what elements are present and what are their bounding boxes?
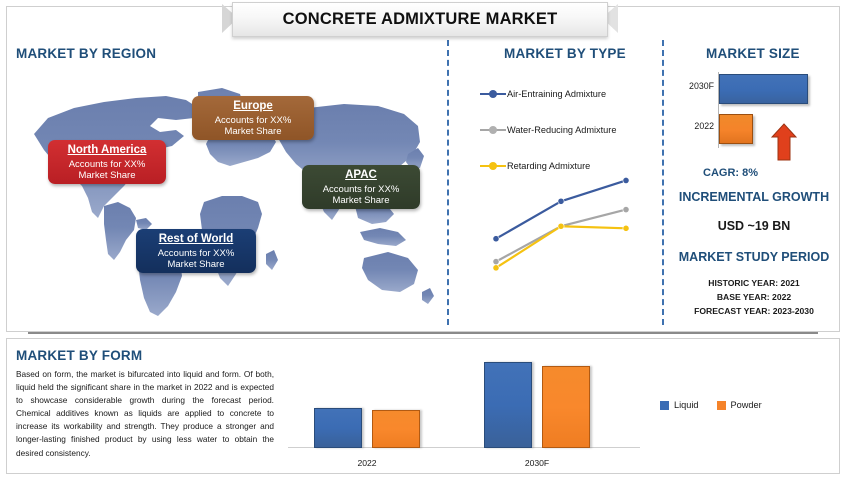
bar-2022-powder[interactable] bbox=[372, 410, 420, 448]
legend-marker-icon bbox=[480, 125, 506, 135]
region-callout-rest-of-world[interactable]: Rest of World Accounts for XX% Market Sh… bbox=[136, 229, 256, 273]
title-ribbon-body: CONCRETE ADMIXTURE MARKET bbox=[232, 2, 608, 37]
bar-2030f-liquid[interactable] bbox=[484, 362, 532, 448]
growth-arrow-icon bbox=[771, 123, 797, 161]
line-chart-svg bbox=[470, 160, 650, 285]
category-label: 2030F bbox=[672, 81, 714, 91]
data-point[interactable] bbox=[623, 225, 629, 231]
region-name: APAC bbox=[308, 169, 414, 183]
bar-2030f-powder[interactable] bbox=[542, 366, 590, 448]
legend-swatch-icon bbox=[660, 401, 669, 410]
market-by-form-bar-chart: 2022 2030F bbox=[288, 358, 640, 470]
title-ribbon: CONCRETE ADMIXTURE MARKET bbox=[222, 2, 618, 37]
market-size-row-2030f: 2030F bbox=[672, 74, 842, 104]
data-point[interactable] bbox=[623, 177, 629, 183]
market-by-form-paragraph: Based on form, the market is bifurcated … bbox=[16, 368, 274, 460]
region-name: Europe bbox=[198, 100, 308, 114]
bar-2022-liquid[interactable] bbox=[314, 408, 362, 448]
region-share-line1: Accounts for XX% bbox=[198, 115, 308, 126]
horizontal-divider bbox=[28, 332, 818, 334]
x-axis-label-2022: 2022 bbox=[327, 458, 407, 468]
legend-label: Liquid bbox=[674, 400, 699, 410]
data-point[interactable] bbox=[623, 207, 629, 213]
region-share-line1: Accounts for XX% bbox=[142, 248, 250, 259]
page-title: CONCRETE ADMIXTURE MARKET bbox=[283, 10, 558, 29]
base-year-value: BASE YEAR: 2022 bbox=[664, 292, 844, 302]
incremental-growth-heading: INCREMENTAL GROWTH bbox=[664, 190, 844, 204]
market-size-row-2022: 2022 bbox=[672, 114, 842, 144]
region-callout-apac[interactable]: APAC Accounts for XX% Market Share bbox=[302, 165, 420, 209]
legend-item-liquid[interactable]: Liquid bbox=[660, 400, 699, 410]
region-share-line1: Accounts for XX% bbox=[308, 184, 414, 195]
incremental-growth-value: USD ~19 BN bbox=[664, 219, 844, 233]
data-point[interactable] bbox=[558, 223, 564, 229]
market-size-bar-chart: 2030F 2022 bbox=[672, 72, 842, 148]
section-heading-market-size: MARKET SIZE bbox=[706, 46, 800, 61]
region-share-line2: Market Share bbox=[308, 195, 414, 206]
market-by-type-line-chart bbox=[470, 160, 650, 285]
region-callout-north-america[interactable]: North America Accounts for XX% Market Sh… bbox=[48, 140, 166, 184]
region-name: Rest of World bbox=[142, 233, 250, 247]
legend-item-air-entraining[interactable]: Air-Entraining Admixture bbox=[480, 76, 650, 112]
infographic-canvas: CONCRETE ADMIXTURE MARKET MARKET BY REGI… bbox=[0, 0, 846, 480]
data-point[interactable] bbox=[493, 236, 499, 242]
region-share-line2: Market Share bbox=[198, 126, 308, 137]
section-heading-market-by-region: MARKET BY REGION bbox=[16, 46, 156, 61]
region-name: North America bbox=[54, 144, 160, 158]
line-series-0 bbox=[496, 180, 626, 238]
x-axis-label-2030f: 2030F bbox=[497, 458, 577, 468]
market-study-period-heading: MARKET STUDY PERIOD bbox=[664, 250, 844, 264]
forecast-year-value: FORECAST YEAR: 2023-2030 bbox=[664, 306, 844, 316]
section-heading-market-by-form: MARKET BY FORM bbox=[16, 348, 142, 363]
section-heading-market-by-type: MARKET BY TYPE bbox=[504, 46, 626, 61]
line-series-1 bbox=[496, 210, 626, 262]
historic-year-value: HISTORIC YEAR: 2021 bbox=[664, 278, 844, 288]
region-share-line2: Market Share bbox=[142, 259, 250, 270]
legend-marker-icon bbox=[480, 89, 506, 99]
cagr-label: CAGR: 8% bbox=[703, 167, 758, 179]
line-series-2 bbox=[496, 226, 626, 268]
legend-item-powder[interactable]: Powder bbox=[717, 400, 762, 410]
legend-swatch-icon bbox=[717, 401, 726, 410]
bar-2030f[interactable] bbox=[719, 74, 808, 104]
category-label: 2022 bbox=[672, 121, 714, 131]
data-point[interactable] bbox=[493, 265, 499, 271]
bar-2022[interactable] bbox=[719, 114, 753, 144]
data-point[interactable] bbox=[493, 259, 499, 265]
market-by-form-legend: Liquid Powder bbox=[660, 400, 762, 410]
region-share-line1: Accounts for XX% bbox=[54, 159, 160, 170]
vertical-divider-left bbox=[447, 40, 449, 325]
data-point[interactable] bbox=[558, 198, 564, 204]
legend-label: Water-Reducing Admixture bbox=[507, 125, 616, 135]
region-share-line2: Market Share bbox=[54, 170, 160, 181]
region-callout-europe[interactable]: Europe Accounts for XX% Market Share bbox=[192, 96, 314, 140]
legend-item-water-reducing[interactable]: Water-Reducing Admixture bbox=[480, 112, 650, 148]
legend-label: Powder bbox=[731, 400, 762, 410]
legend-label: Air-Entraining Admixture bbox=[507, 89, 606, 99]
